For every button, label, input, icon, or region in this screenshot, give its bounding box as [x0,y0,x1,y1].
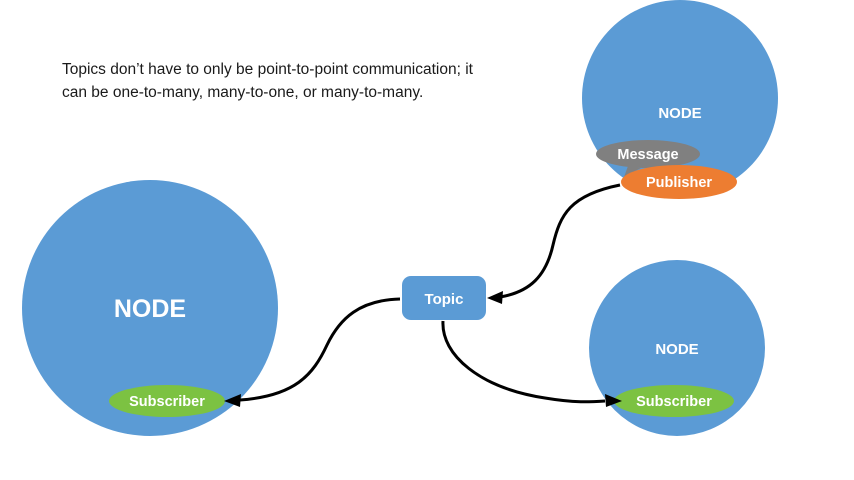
slide-canvas: Topics don’t have to only be point-to-po… [0,0,854,480]
node-left-label: NODE [114,295,186,323]
subscriber-left[interactable]: Subscriber [109,385,225,417]
subscriber-left-label: Subscriber [129,394,205,410]
topic-box-label: Topic [425,291,464,308]
connector-topic-to-subscriber-bottom-right-path [443,321,605,402]
subscriber-bottom-right-label: Subscriber [636,394,712,410]
topic-box[interactable]: Topic [402,276,486,320]
node-bottom-right[interactable]: NODE Subscriber [589,260,765,436]
message-bubble-label: Message [617,147,678,163]
publisher-top-right[interactable]: Publisher [621,165,737,199]
node-bottom-right-label: NODE [655,341,698,358]
node-top-right-label: NODE [658,105,701,122]
publisher-label: Publisher [646,175,712,191]
connector-publisher-to-topic-path [500,185,620,297]
connector-publisher-to-topic-arrowhead [487,291,503,304]
node-top-right[interactable]: NODE Message Publisher [582,0,778,199]
subscriber-bottom-right[interactable]: Subscriber [614,385,734,417]
connector-publisher-to-topic [487,185,620,304]
diagram-canvas: NODE Subscriber NODE Message Publisher [0,0,854,480]
